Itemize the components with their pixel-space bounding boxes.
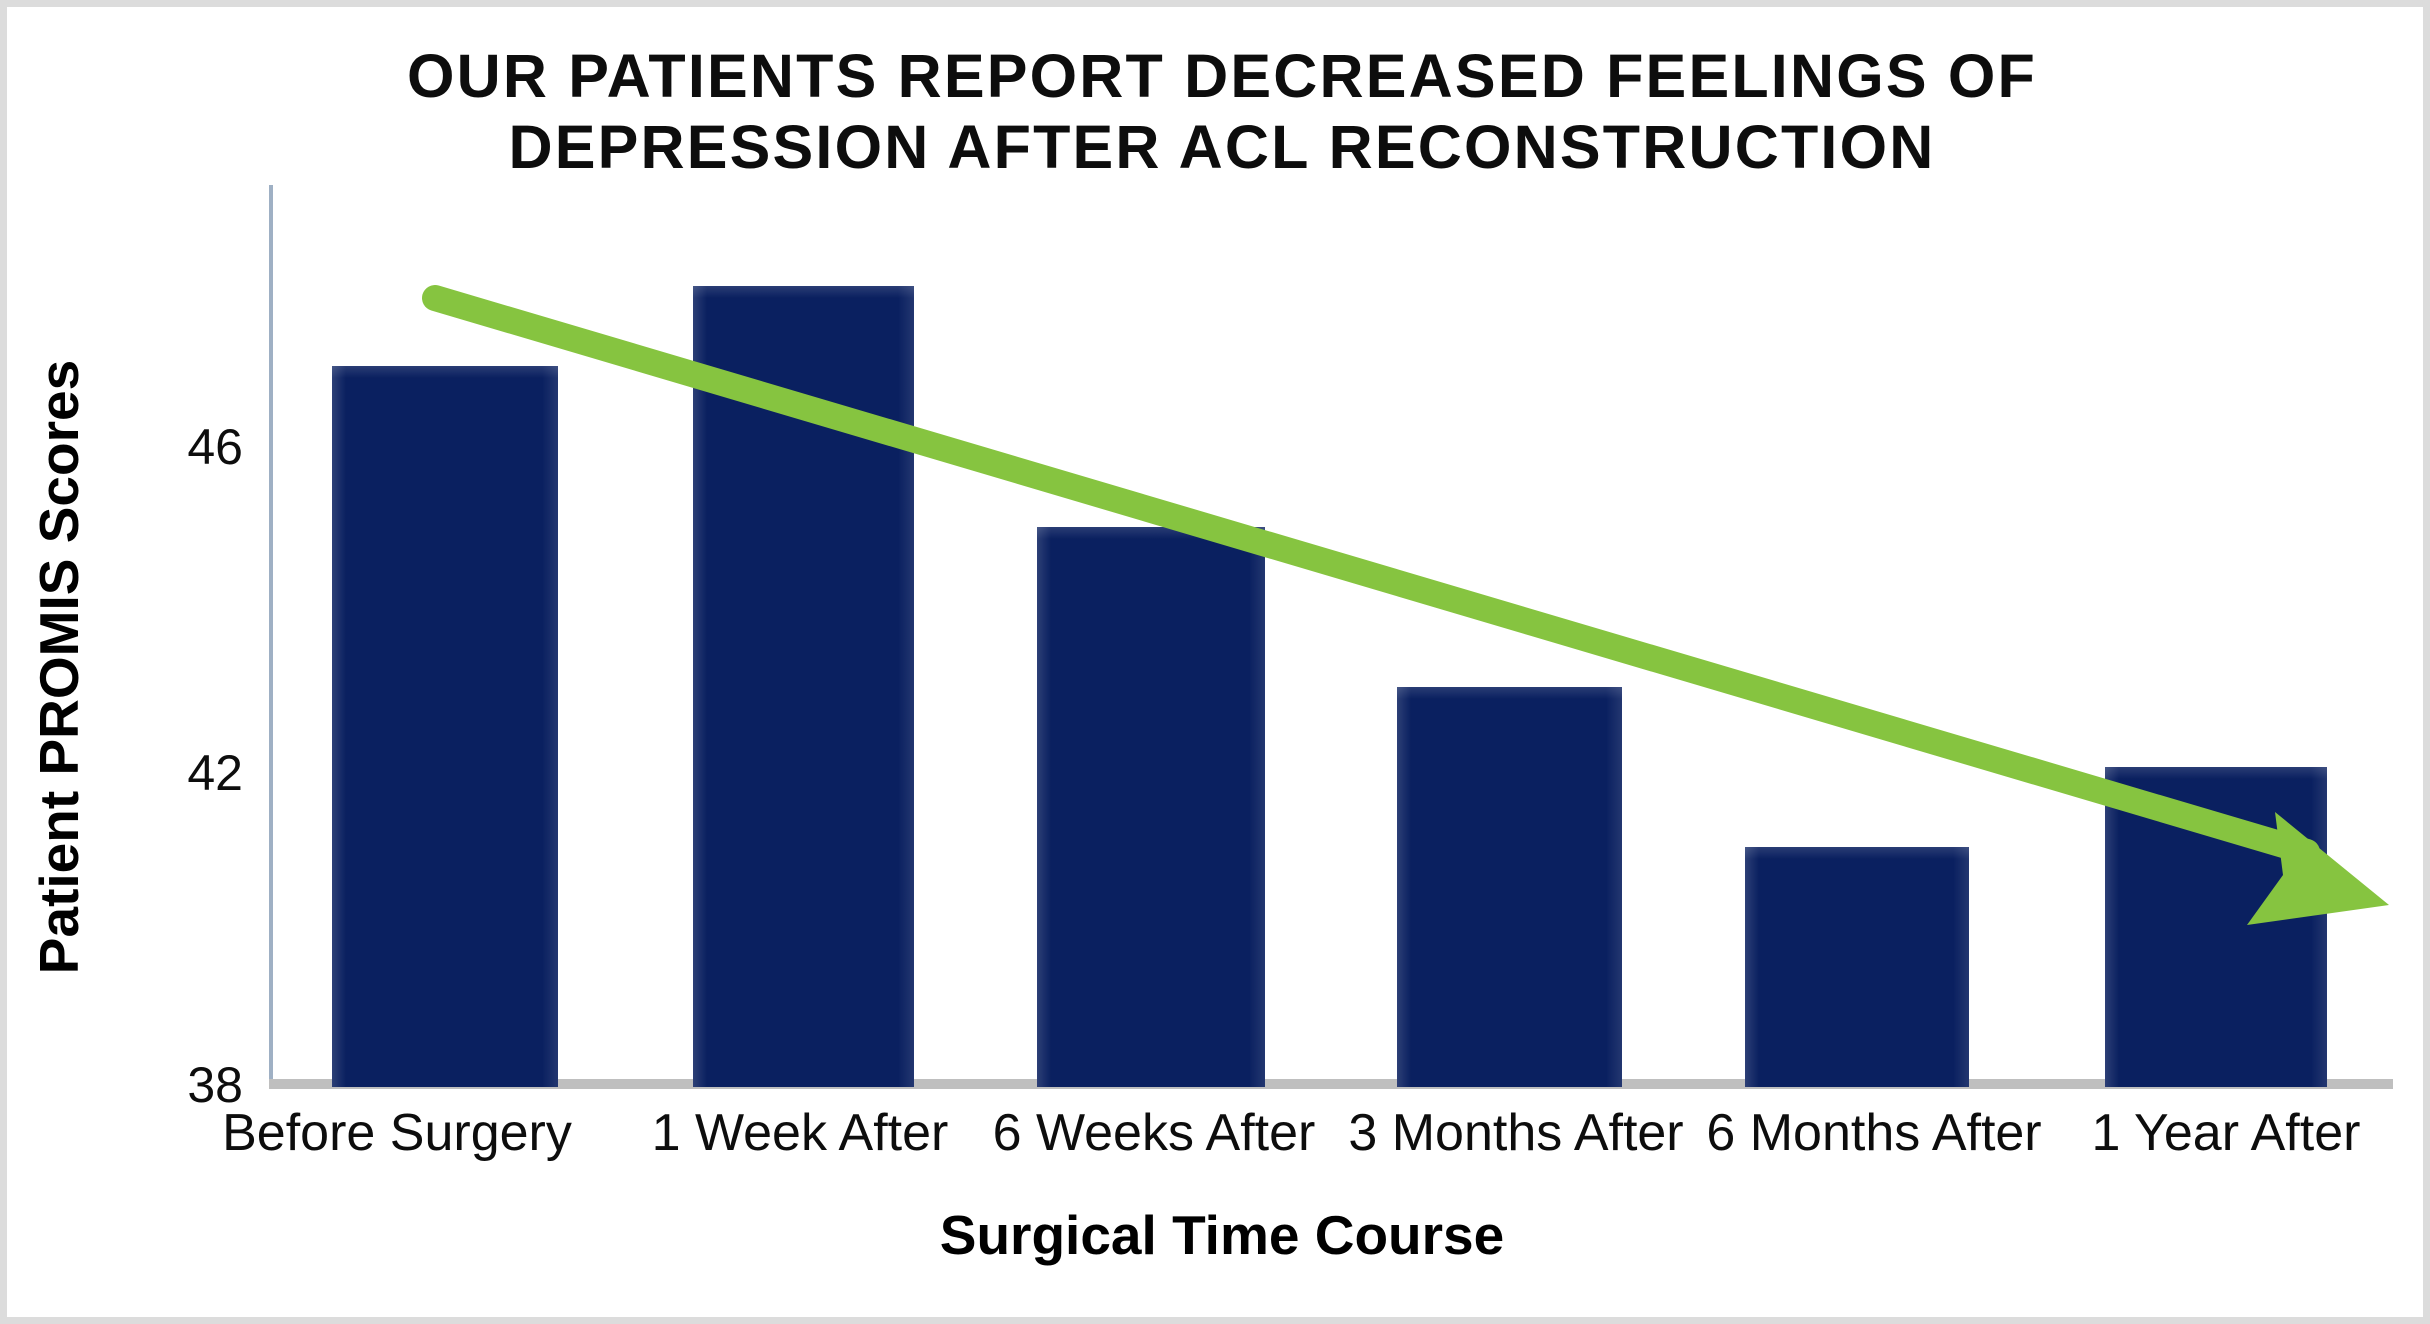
x-axis-title: Surgical Time Course	[7, 1203, 2430, 1267]
bar-3-months-after[interactable]	[1397, 687, 1622, 1087]
x-label-1-year-after: 1 Year After	[2057, 1103, 2395, 1163]
x-label-3-months-after: 3 Months After	[1327, 1103, 1705, 1163]
x-label-before-surgery: Before Surgery	[212, 1103, 582, 1163]
y-tick-label-42: 42	[103, 744, 243, 802]
bar-1-week-after[interactable]	[693, 286, 914, 1087]
bar-1-year-after[interactable]	[2105, 767, 2327, 1087]
plot-area	[275, 177, 2385, 1087]
y-axis-line	[269, 185, 273, 1083]
x-label-1-week-after: 1 Week After	[615, 1103, 985, 1163]
x-label-6-weeks-after: 6 Weeks After	[965, 1103, 1343, 1163]
chart-page: OUR PATIENTS REPORT DECREASED FEELINGS O…	[0, 0, 2430, 1324]
y-axis-title: Patient PROMIS Scores	[27, 347, 91, 987]
chart-title-line-1: OUR PATIENTS REPORT DECREASED FEELINGS O…	[187, 41, 2257, 112]
bar-before-surgery[interactable]	[332, 366, 558, 1087]
bar-6-months-after[interactable]	[1745, 847, 1969, 1087]
y-tick-label-46: 46	[103, 418, 243, 476]
bar-6-weeks-after[interactable]	[1037, 527, 1265, 1087]
x-label-6-months-after: 6 Months After	[1685, 1103, 2063, 1163]
chart-title-line-2: DEPRESSION AFTER ACL RECONSTRUCTION	[187, 112, 2257, 183]
chart-title: OUR PATIENTS REPORT DECREASED FEELINGS O…	[187, 41, 2257, 183]
